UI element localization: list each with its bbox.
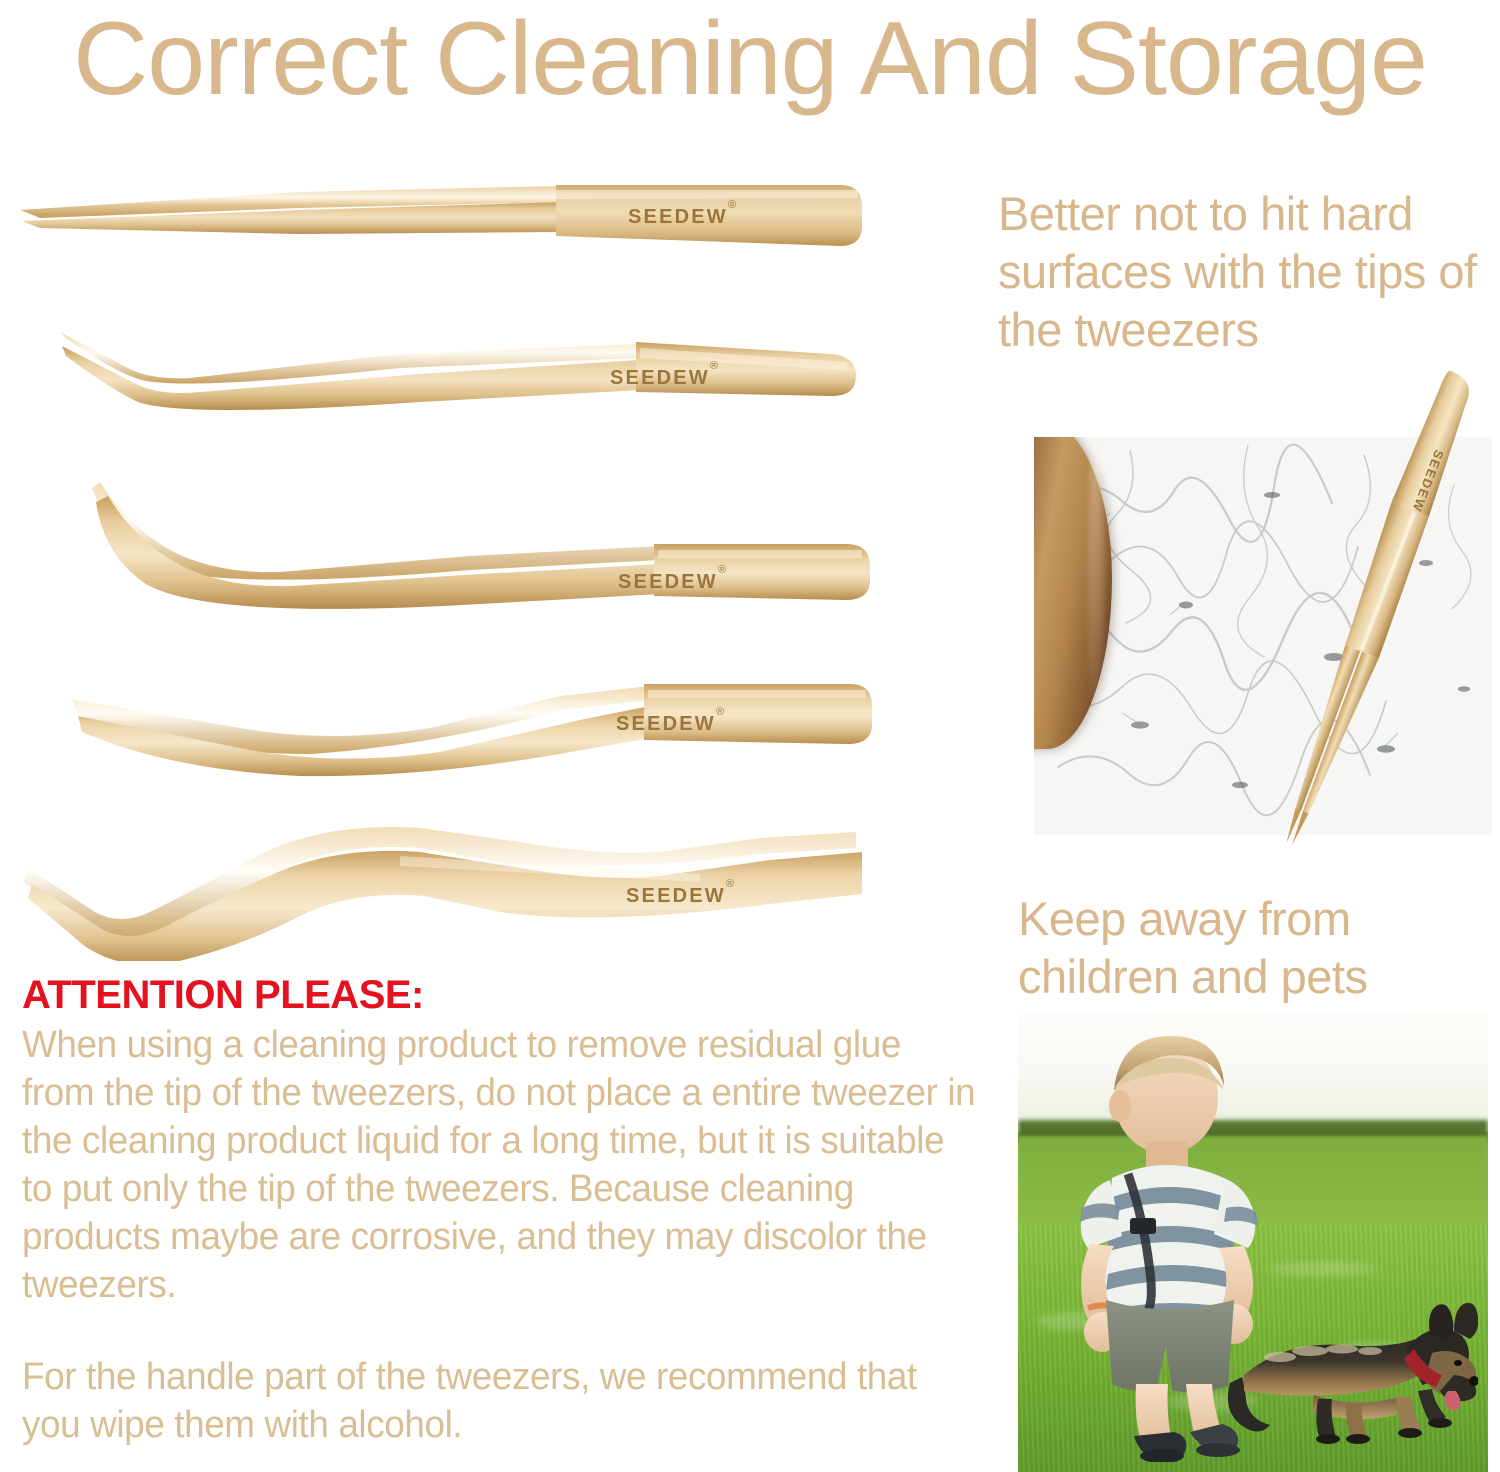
attention-heading: ATTENTION PLEASE: — [22, 972, 1012, 1018]
brand-label: SEEDEW — [626, 885, 726, 907]
tweezer-item-5: SEEDEW ® — [0, 816, 960, 961]
brand-trademark-icon: ® — [728, 199, 736, 211]
straight-point-tweezer-icon: SEEDEW ® — [0, 168, 900, 283]
tweezer-item-2: SEEDEW ® — [0, 318, 960, 438]
german-shepherd-dog — [1218, 1257, 1478, 1447]
brand-trademark-icon: ® — [726, 878, 734, 890]
tweezer-product-stack: SEEDEW ® — [0, 168, 960, 958]
attention-block: ATTENTION PLEASE: When using a cleaning … — [22, 972, 1012, 1449]
brand-trademark-icon: ® — [710, 360, 718, 372]
curved-tip-tweezer-icon: SEEDEW ® — [0, 658, 900, 808]
brand-label: SEEDEW — [618, 571, 718, 593]
wooden-bowl — [1034, 437, 1112, 749]
right-column: Better not to hit hard surfaces with the… — [988, 0, 1500, 1472]
brand-trademark-icon: ® — [718, 564, 726, 576]
tweezer-item-4: SEEDEW ® — [0, 658, 960, 808]
tweezer-item-1: SEEDEW ® — [0, 168, 960, 283]
brand-label: SEEDEW — [610, 367, 710, 389]
hook-tip-tweezer-icon: SEEDEW ® — [0, 468, 900, 628]
photo-child-and-dog — [1018, 1012, 1488, 1472]
brand-label: SEEDEW — [628, 206, 728, 228]
photo-marble-wrap: SEEDEW — [1034, 437, 1492, 835]
boot-tip-tweezer-icon: SEEDEW ® — [0, 318, 900, 438]
brand-trademark-icon: ® — [716, 706, 724, 718]
brand-label: SEEDEW — [616, 713, 716, 735]
attention-paragraph-1: When using a cleaning product to remove … — [22, 1021, 982, 1309]
callout-hit-hard-surfaces: Better not to hit hard surfaces with the… — [998, 185, 1498, 359]
tweezer-item-3: SEEDEW ® — [0, 468, 960, 628]
s-curve-boot-tweezer-icon: SEEDEW ® — [0, 816, 900, 961]
attention-paragraph-2: For the handle part of the tweezers, we … — [22, 1353, 982, 1449]
photo-tweezer-on-marble — [1034, 437, 1492, 835]
callout-keep-away: Keep away from children and pets — [1018, 890, 1488, 1006]
